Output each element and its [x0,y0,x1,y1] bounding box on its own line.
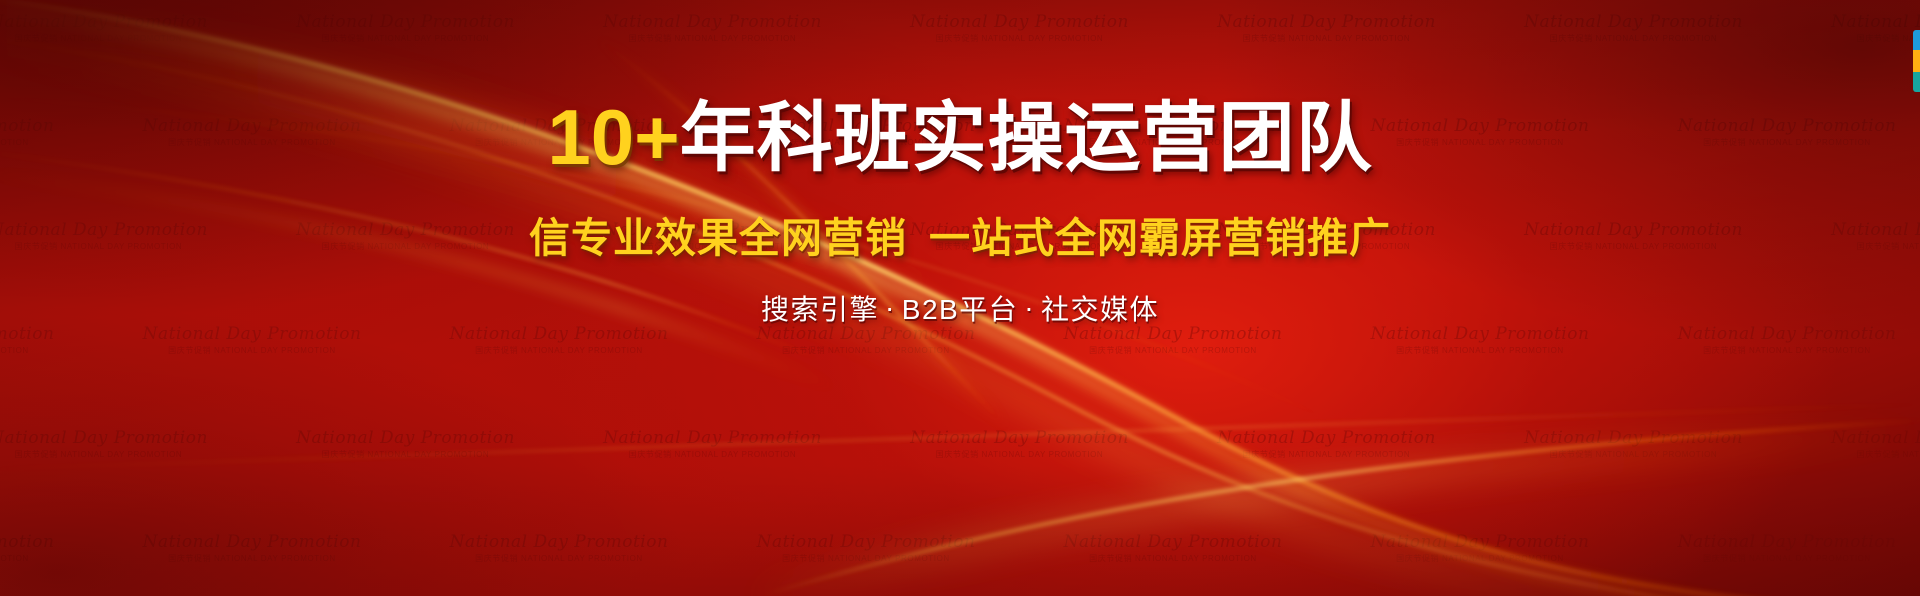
tagline: 搜索引擎·B2B平台·社交媒体 [0,288,1920,328]
promo-banner: National Day Promotion国庆节促销 NATIONAL DAY… [0,0,1920,596]
watermark-english: National Day Promotion [1495,430,1772,448]
watermark-english: National Day Promotion [881,430,1158,448]
watermark-tile: National Day Promotion国庆节促销 NATIONAL DAY… [0,326,84,355]
watermark-english: National Day Promotion [0,430,237,448]
watermark-chinese: 国庆节促销 NATIONAL DAY PROMOTION [574,35,851,43]
side-widget-segment-orange[interactable] [1913,50,1920,72]
watermark-english: National Day Promotion [881,14,1158,32]
tagline-item-b2b-platform: B2B平台 [902,294,1018,325]
watermark-english: National Day Promotion [267,14,544,32]
watermark-tile: National Day Promotion国庆节促销 NATIONAL DAY… [0,430,237,459]
watermark-english: National Day Promotion [1649,534,1920,552]
banner-content: 10+年科班实操运营团队 信专业效果全网营销一站式全网霸屏营销推广 搜索引擎·B… [0,96,1920,328]
headline-text: 年科班实操运营团队 [680,96,1373,181]
watermark-english: National Day Promotion [421,326,698,344]
watermark-chinese: 国庆节促销 NATIONAL DAY PROMOTION [1802,35,1920,43]
watermark-english: National Day Promotion [1188,430,1465,448]
watermark-tile: National Day Promotion国庆节促销 NATIONAL DAY… [1649,534,1920,563]
watermark-tile: National Day Promotion国庆节促销 NATIONAL DAY… [1035,326,1312,355]
watermark-chinese: 国庆节促销 NATIONAL DAY PROMOTION [267,35,544,43]
watermark-tile: National Day Promotion国庆节促销 NATIONAL DAY… [1342,534,1619,563]
watermark-chinese: 国庆节促销 NATIONAL DAY PROMOTION [421,555,698,563]
watermark-tile: National Day Promotion国庆节促销 NATIONAL DAY… [1188,14,1465,43]
watermark-chinese: 国庆节促销 NATIONAL DAY PROMOTION [114,555,391,563]
watermark-tile: National Day Promotion国庆节促销 NATIONAL DAY… [1188,430,1465,459]
watermark-chinese: 国庆节促销 NATIONAL DAY PROMOTION [1188,35,1465,43]
watermark-chinese: 国庆节促销 NATIONAL DAY PROMOTION [0,347,84,355]
watermark-english: National Day Promotion [114,326,391,344]
watermark-english: National Day Promotion [0,14,237,32]
watermark-chinese: 国庆节促销 NATIONAL DAY PROMOTION [0,451,237,459]
watermark-tile: National Day Promotion国庆节促销 NATIONAL DAY… [1802,14,1920,43]
watermark-tile: National Day Promotion国庆节促销 NATIONAL DAY… [1495,14,1772,43]
watermark-tile: National Day Promotion国庆节促销 NATIONAL DAY… [114,326,391,355]
watermark-chinese: 国庆节促销 NATIONAL DAY PROMOTION [1495,35,1772,43]
watermark-chinese: 国庆节促销 NATIONAL DAY PROMOTION [728,555,1005,563]
watermark-chinese: 国庆节促销 NATIONAL DAY PROMOTION [1649,347,1920,355]
watermark-english: National Day Promotion [1342,534,1619,552]
watermark-chinese: 国庆节促销 NATIONAL DAY PROMOTION [881,35,1158,43]
watermark-chinese: 国庆节促销 NATIONAL DAY PROMOTION [728,347,1005,355]
watermark-tile: National Day Promotion国庆节促销 NATIONAL DAY… [728,534,1005,563]
watermark-chinese: 国庆节促销 NATIONAL DAY PROMOTION [1035,555,1312,563]
watermark-tile: National Day Promotion国庆节促销 NATIONAL DAY… [574,14,851,43]
watermark-english: National Day Promotion [0,534,84,552]
watermark-english: National Day Promotion [1802,14,1920,32]
watermark-chinese: 国庆节促销 NATIONAL DAY PROMOTION [114,347,391,355]
headline: 10+年科班实操运营团队 [0,96,1920,180]
watermark-english: National Day Promotion [1035,534,1312,552]
watermark-tile: National Day Promotion国庆节促销 NATIONAL DAY… [421,534,698,563]
side-widget-segment-teal[interactable] [1913,72,1920,92]
watermark-english: National Day Promotion [1802,430,1920,448]
tagline-separator-2: · [1018,292,1041,324]
watermark-tile: National Day Promotion国庆节促销 NATIONAL DAY… [1649,326,1920,355]
watermark-english: National Day Promotion [728,326,1005,344]
watermark-tile: National Day Promotion国庆节促销 NATIONAL DAY… [574,430,851,459]
watermark-english: National Day Promotion [1649,326,1920,344]
side-widget-sliver[interactable] [1913,30,1920,92]
watermark-english: National Day Promotion [1188,14,1465,32]
watermark-tile: National Day Promotion国庆节促销 NATIONAL DAY… [1035,534,1312,563]
watermark-english: National Day Promotion [114,534,391,552]
watermark-tile: National Day Promotion国庆节促销 NATIONAL DAY… [728,326,1005,355]
watermark-chinese: 国庆节促销 NATIONAL DAY PROMOTION [267,451,544,459]
watermark-tile: National Day Promotion国庆节促销 NATIONAL DAY… [267,14,544,43]
watermark-tile: National Day Promotion国庆节促销 NATIONAL DAY… [421,326,698,355]
watermark-english: National Day Promotion [574,430,851,448]
side-widget-segment-blue[interactable] [1913,30,1920,50]
watermark-english: National Day Promotion [267,430,544,448]
watermark-tile: National Day Promotion国庆节促销 NATIONAL DAY… [267,430,544,459]
watermark-english: National Day Promotion [574,14,851,32]
watermark-english: National Day Promotion [1035,326,1312,344]
watermark-tile: National Day Promotion国庆节促销 NATIONAL DAY… [881,430,1158,459]
subline: 信专业效果全网营销一站式全网霸屏营销推广 [0,204,1920,264]
tagline-separator-1: · [879,292,902,324]
watermark-chinese: 国庆节促销 NATIONAL DAY PROMOTION [1342,555,1619,563]
watermark-chinese: 国庆节促销 NATIONAL DAY PROMOTION [1188,451,1465,459]
watermark-chinese: 国庆节促销 NATIONAL DAY PROMOTION [1342,347,1619,355]
watermark-chinese: 国庆节促销 NATIONAL DAY PROMOTION [1495,451,1772,459]
subline-left: 信专业效果全网营销 [529,215,907,261]
watermark-english: National Day Promotion [1495,14,1772,32]
watermark-english: National Day Promotion [421,534,698,552]
watermark-tile: National Day Promotion国庆节促销 NATIONAL DAY… [114,534,391,563]
watermark-tile: National Day Promotion国庆节促销 NATIONAL DAY… [1495,430,1772,459]
watermark-english: National Day Promotion [0,326,84,344]
watermark-english: National Day Promotion [1342,326,1619,344]
watermark-chinese: 国庆节促销 NATIONAL DAY PROMOTION [1649,555,1920,563]
watermark-chinese: 国庆节促销 NATIONAL DAY PROMOTION [0,35,237,43]
watermark-chinese: 国庆节促销 NATIONAL DAY PROMOTION [1802,451,1920,459]
watermark-tile: National Day Promotion国庆节促销 NATIONAL DAY… [0,534,84,563]
tagline-item-search-engine: 搜索引擎 [761,294,879,325]
tagline-item-social-media: 社交媒体 [1041,294,1159,325]
headline-number: 10+ [547,93,679,181]
watermark-chinese: 国庆节促销 NATIONAL DAY PROMOTION [0,555,84,563]
watermark-tile: National Day Promotion国庆节促销 NATIONAL DAY… [881,14,1158,43]
watermark-english: National Day Promotion [728,534,1005,552]
watermark-chinese: 国庆节促销 NATIONAL DAY PROMOTION [574,451,851,459]
watermark-chinese: 国庆节促销 NATIONAL DAY PROMOTION [881,451,1158,459]
watermark-chinese: 国庆节促销 NATIONAL DAY PROMOTION [421,347,698,355]
watermark-tile: National Day Promotion国庆节促销 NATIONAL DAY… [1802,430,1920,459]
watermark-chinese: 国庆节促销 NATIONAL DAY PROMOTION [1035,347,1312,355]
watermark-tile: National Day Promotion国庆节促销 NATIONAL DAY… [1342,326,1619,355]
subline-right: 一站式全网霸屏营销推广 [929,215,1391,261]
watermark-tile: National Day Promotion国庆节促销 NATIONAL DAY… [0,14,237,43]
